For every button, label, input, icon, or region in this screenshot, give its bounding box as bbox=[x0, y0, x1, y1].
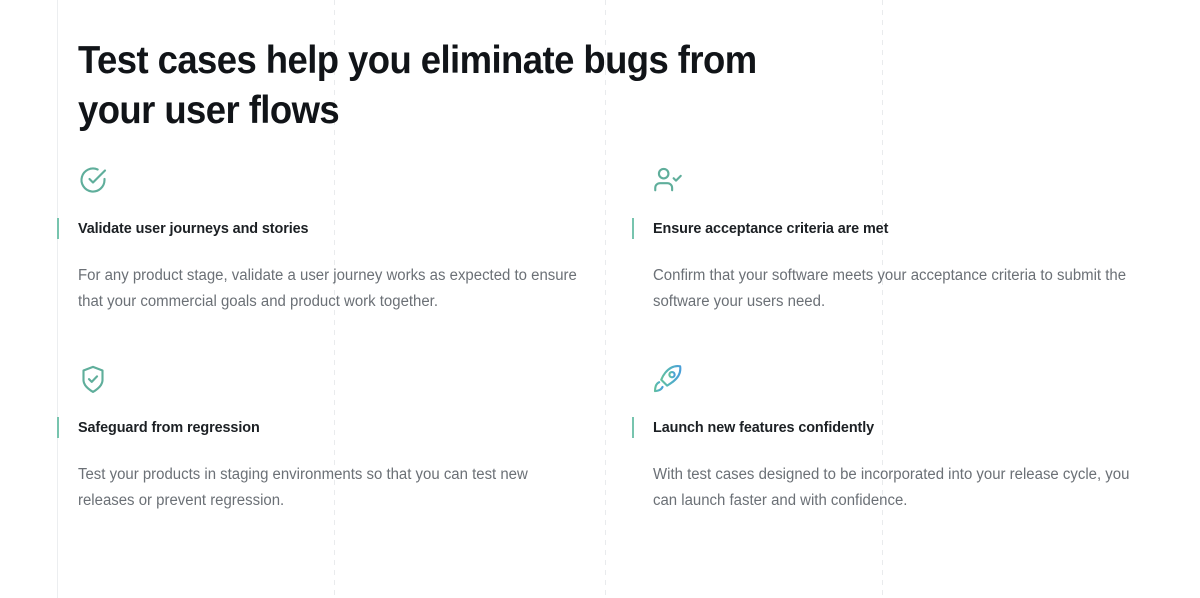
feature-card-body: Confirm that your software meets your ac… bbox=[653, 263, 1155, 314]
check-circle-icon bbox=[78, 165, 108, 195]
feature-card: Ensure acceptance criteria are met Confi… bbox=[629, 165, 1189, 314]
feature-card-title-row: Ensure acceptance criteria are met bbox=[653, 218, 1189, 239]
feature-card-title: Validate user journeys and stories bbox=[78, 218, 595, 239]
accent-bar bbox=[57, 218, 59, 239]
feature-card: Safeguard from regression Test your prod… bbox=[57, 364, 617, 513]
accent-bar bbox=[632, 417, 634, 438]
section-content: Test cases help you eliminate bugs from … bbox=[0, 0, 1200, 598]
shield-check-icon bbox=[78, 364, 108, 394]
feature-card-body: Test your products in staging environmen… bbox=[78, 462, 580, 513]
feature-section: Test cases help you eliminate bugs from … bbox=[0, 0, 1200, 598]
accent-bar bbox=[632, 218, 634, 239]
feature-card-title-row: Launch new features confidently bbox=[653, 417, 1189, 438]
feature-card-title-row: Validate user journeys and stories bbox=[78, 218, 617, 239]
feature-card: Launch new features confidently With tes… bbox=[629, 364, 1189, 513]
feature-card-body: For any product stage, validate a user j… bbox=[78, 263, 580, 314]
rocket-icon bbox=[653, 364, 683, 394]
feature-card-title: Ensure acceptance criteria are met bbox=[653, 218, 1168, 239]
feature-card-body: With test cases designed to be incorpora… bbox=[653, 462, 1155, 513]
feature-card-title: Launch new features confidently bbox=[653, 417, 1168, 438]
section-heading: Test cases help you eliminate bugs from … bbox=[78, 36, 826, 136]
feature-card: Validate user journeys and stories For a… bbox=[57, 165, 617, 314]
user-check-icon bbox=[653, 165, 683, 195]
feature-card-title-row: Safeguard from regression bbox=[78, 417, 617, 438]
accent-bar bbox=[57, 417, 59, 438]
feature-card-grid: Validate user journeys and stories For a… bbox=[0, 165, 1200, 513]
feature-card-title: Safeguard from regression bbox=[78, 417, 595, 438]
